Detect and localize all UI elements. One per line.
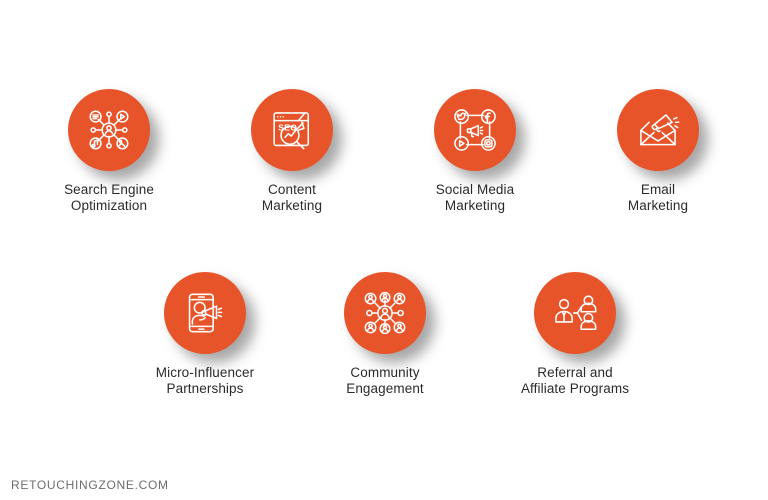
item-search-engine-optimization[interactable]: Search Engine Optimization [19, 89, 199, 214]
social-network-megaphone-icon [449, 104, 501, 156]
item-label: Content Marketing [202, 182, 382, 214]
badge-circle[interactable] [434, 89, 516, 171]
badge-wrap [534, 272, 616, 354]
item-label: Social Media Marketing [385, 182, 565, 214]
badge-wrap [344, 272, 426, 354]
badge-circle[interactable] [164, 272, 246, 354]
badge-circle[interactable] [617, 89, 699, 171]
item-label: Micro-Influencer Partnerships [115, 365, 295, 397]
watermark-footer: RETOUCHINGZONE.COM [11, 478, 169, 492]
seo-browser-magnifier-icon: SEO [266, 104, 318, 156]
item-social-media-marketing[interactable]: Social Media Marketing [385, 89, 565, 214]
badge-wrap: SEO [251, 89, 333, 171]
badge-wrap [164, 272, 246, 354]
community-people-network-icon [359, 287, 411, 339]
item-email-marketing[interactable]: Email Marketing [568, 89, 748, 214]
item-label: Referral and Affiliate Programs [485, 365, 665, 397]
item-community-engagement[interactable]: Community Engagement [295, 272, 475, 397]
badge-wrap [617, 89, 699, 171]
referral-people-branch-icon [549, 287, 601, 339]
item-content-marketing[interactable]: SEO Content Marketing [202, 89, 382, 214]
network-user-nodes-icon [83, 104, 135, 156]
badge-wrap [68, 89, 150, 171]
envelope-megaphone-icon [632, 104, 684, 156]
infographic-canvas: Search Engine Optimization SEO [0, 0, 768, 500]
item-label: Search Engine Optimization [19, 182, 199, 214]
item-label: Email Marketing [568, 182, 748, 214]
badge-circle[interactable] [344, 272, 426, 354]
item-referral-and-affiliate-programs[interactable]: Referral and Affiliate Programs [485, 272, 665, 397]
badge-circle[interactable] [68, 89, 150, 171]
badge-circle[interactable]: SEO [251, 89, 333, 171]
badge-circle[interactable] [534, 272, 616, 354]
item-micro-influencer-partnerships[interactable]: Micro-Influencer Partnerships [115, 272, 295, 397]
item-label: Community Engagement [295, 365, 475, 397]
badge-wrap [434, 89, 516, 171]
smartphone-influencer-megaphone-icon [179, 287, 231, 339]
